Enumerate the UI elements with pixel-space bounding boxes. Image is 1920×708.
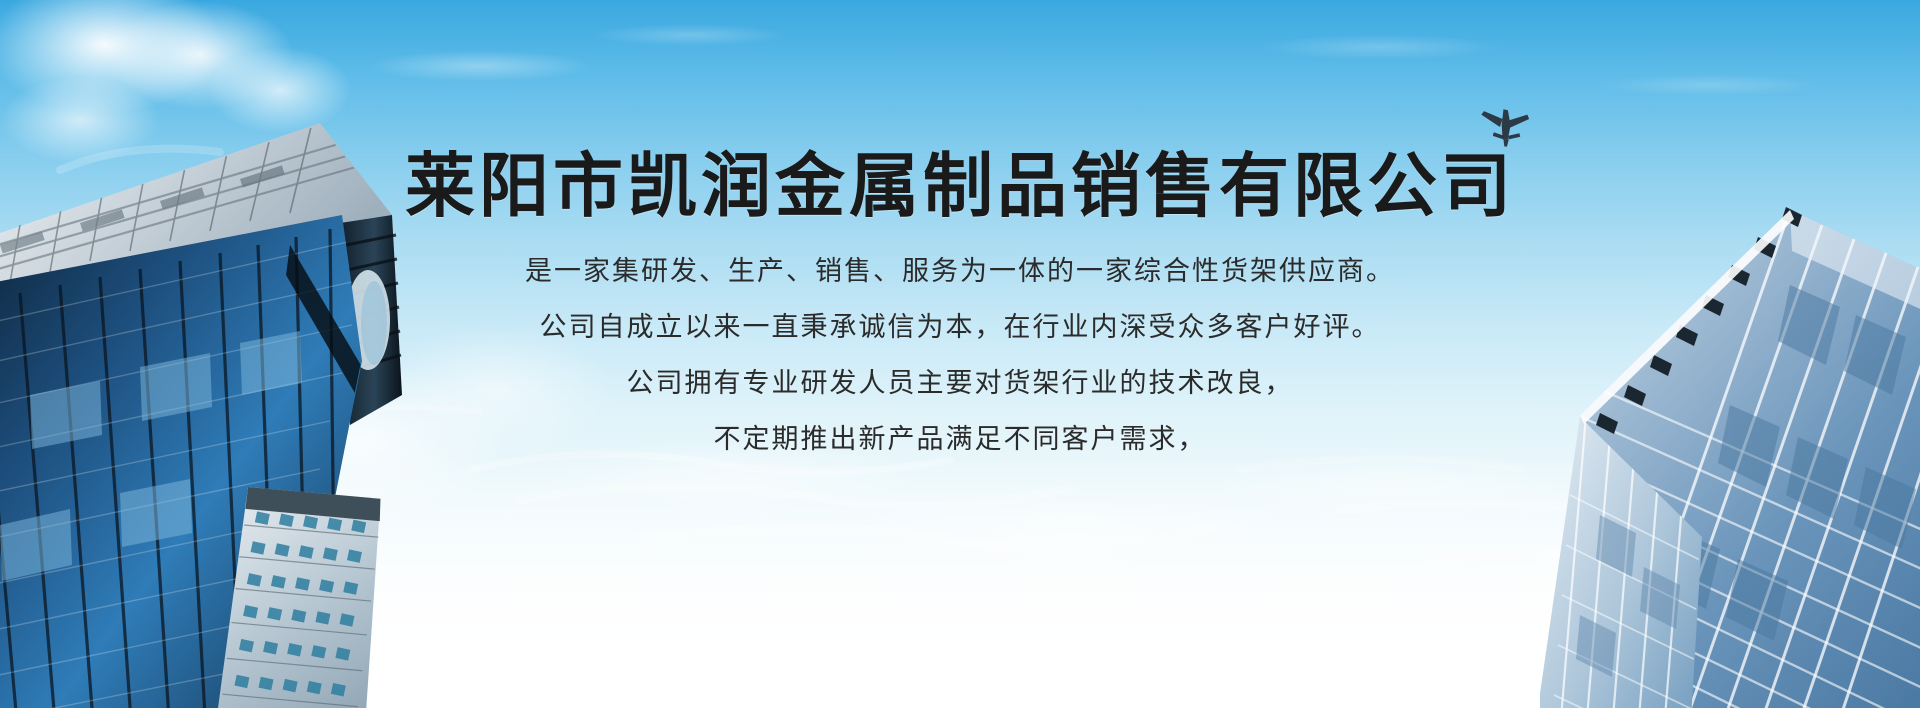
- description-line: 公司拥有专业研发人员主要对货架行业的技术改良，: [0, 370, 1920, 397]
- airplane-icon: [1478, 104, 1536, 150]
- page-title: 莱阳市凯润金属制品销售有限公司: [0, 150, 1920, 224]
- company-description-list: 是一家集研发、生产、销售、服务为一体的一家综合性货架供应商。 公司自成立以来一直…: [0, 258, 1920, 453]
- hero-text-block: 莱阳市凯润金属制品销售有限公司 是一家集研发、生产、销售、服务为一体的一家综合性…: [0, 150, 1920, 482]
- description-line: 公司自成立以来一直秉承诚信为本，在行业内深受众多客户好评。: [0, 314, 1920, 341]
- company-hero-banner: 莱阳市凯润金属制品销售有限公司 是一家集研发、生产、销售、服务为一体的一家综合性…: [0, 0, 1920, 708]
- description-line: 不定期推出新产品满足不同客户需求，: [0, 426, 1920, 453]
- description-line: 是一家集研发、生产、销售、服务为一体的一家综合性货架供应商。: [0, 258, 1920, 285]
